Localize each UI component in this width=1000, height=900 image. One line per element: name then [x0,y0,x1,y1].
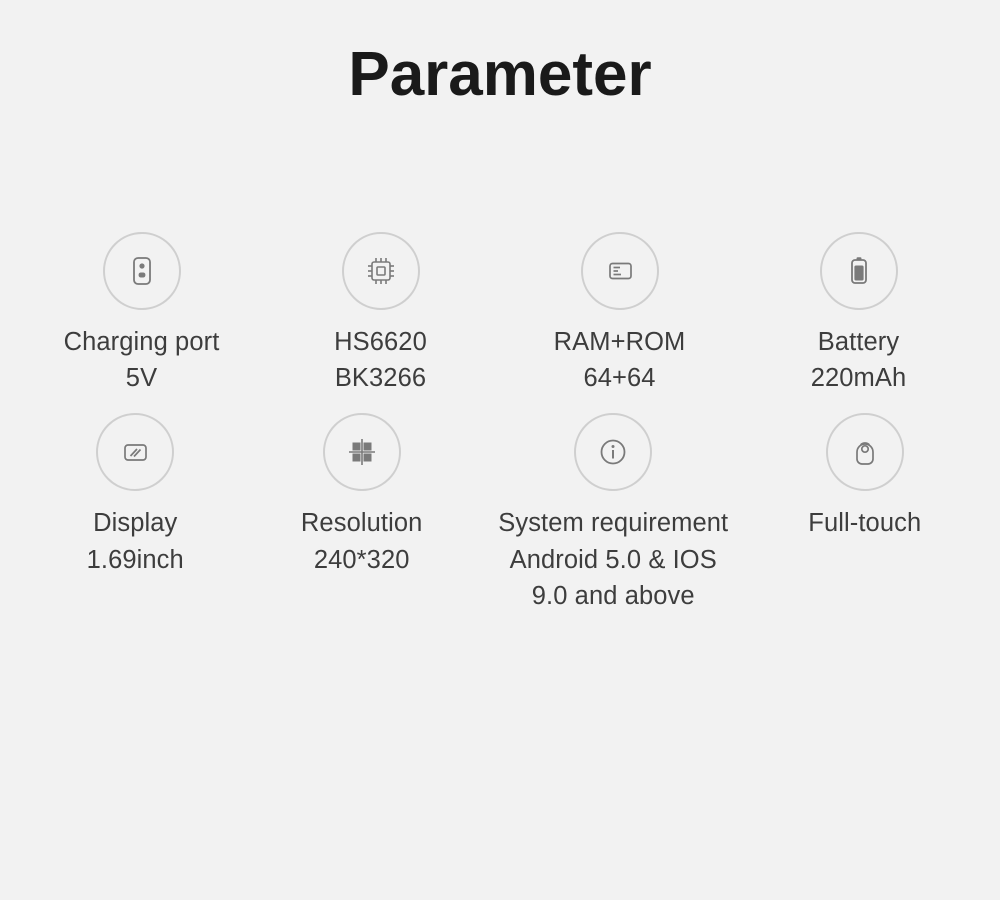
spec-caption: Display 1.69inch [87,505,184,577]
spec-line: System requirement [498,505,728,541]
spec-line: Full-touch [808,505,921,541]
spec-grid: Charging port 5V [0,232,1000,614]
spec-line: Android 5.0 & IOS [498,542,728,578]
spec-line: 9.0 and above [498,578,728,614]
spec-item-battery: Battery 220mAh [739,232,978,396]
charging-port-icon [103,232,181,310]
battery-icon [820,232,898,310]
spec-line: Display [87,505,184,541]
spec-caption: Full-touch [808,505,921,541]
spec-caption: HS6620 BK3266 [334,324,427,396]
spec-row-1: Charging port 5V [0,232,1000,396]
display-icon [96,413,174,491]
spec-item-ram-rom: RAM+ROM 64+64 [500,232,739,396]
info-icon [574,413,652,491]
spec-item-resolution: Resolution 240*320 [248,413,474,577]
spec-item-display: Display 1.69inch [22,413,248,577]
full-touch-icon [826,413,904,491]
spec-line: BK3266 [334,360,427,396]
spec-caption: Battery 220mAh [811,324,907,396]
spec-item-charging-port: Charging port 5V [22,232,261,396]
spec-line: HS6620 [334,324,427,360]
spec-item-system-requirement: System requirement Android 5.0 & IOS 9.0… [475,413,752,614]
spec-caption: System requirement Android 5.0 & IOS 9.0… [498,505,728,614]
spec-line: Resolution [301,505,423,541]
parameter-page: Parameter Charging port 5V [0,0,1000,900]
spec-line: Charging port [64,324,220,360]
spec-line: RAM+ROM [554,324,686,360]
spec-line: 64+64 [554,360,686,396]
spec-item-full-touch: Full-touch [752,413,978,541]
spec-line: 1.69inch [87,542,184,578]
spec-line: 240*320 [301,542,423,578]
spec-item-chipset: HS6620 BK3266 [261,232,500,396]
spec-caption: Resolution 240*320 [301,505,423,577]
resolution-icon [323,413,401,491]
page-title: Parameter [0,0,1000,106]
spec-line: 5V [64,360,220,396]
spec-line: 220mAh [811,360,907,396]
ram-rom-icon [581,232,659,310]
spec-caption: Charging port 5V [64,324,220,396]
spec-row-2: Display 1.69inch Resolution [0,413,1000,614]
chip-icon [342,232,420,310]
spec-line: Battery [811,324,907,360]
spec-caption: RAM+ROM 64+64 [554,324,686,396]
